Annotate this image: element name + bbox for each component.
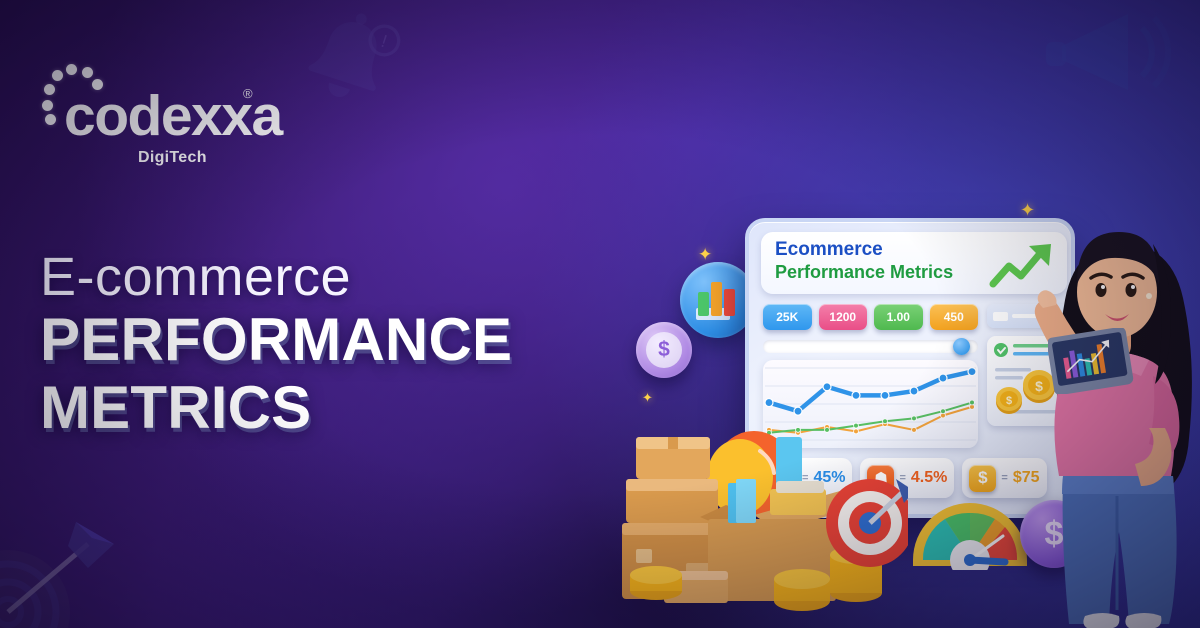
vignette-overlay [0, 0, 1200, 628]
poster-canvas: ! codexxa ® DigiTech E-commerc [0, 0, 1200, 628]
